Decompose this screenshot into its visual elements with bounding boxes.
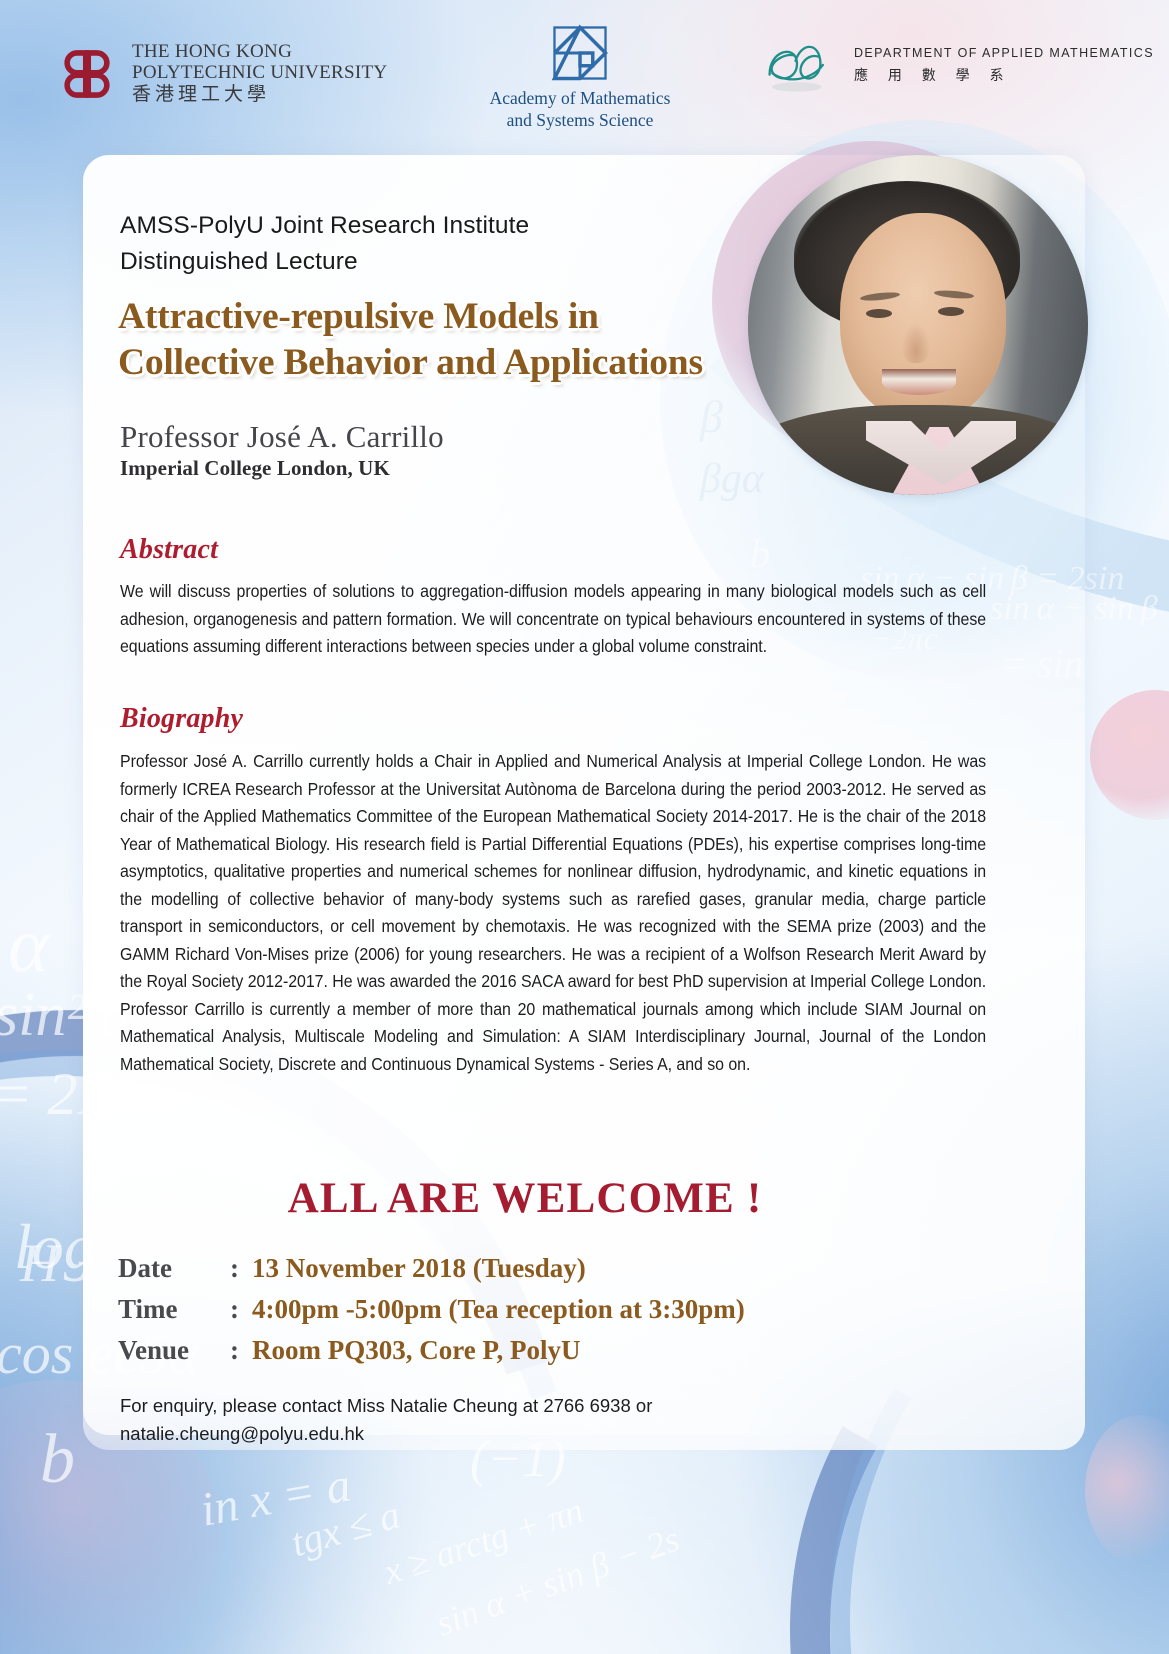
polyu-name-chinese: 香港理工大學 (132, 85, 387, 106)
event-kicker: AMSS-PolyU Joint Research Institute Dist… (120, 208, 760, 279)
abstract-heading: Abstract (120, 534, 218, 566)
polyu-logo: THE HONG KONG POLYTECHNIC UNIVERSITY 香港理… (56, 42, 387, 106)
department-wordmark: DEPARTMENT OF APPLIED MATHEMATICS 應 用 數 … (854, 44, 1154, 87)
enquiry-contact: For enquiry, please contact Miss Natalie… (120, 1392, 820, 1448)
enquiry-line-2[interactable]: natalie.cheung@polyu.edu.hk (120, 1420, 820, 1448)
enquiry-line-1: For enquiry, please contact Miss Natalie… (120, 1392, 820, 1420)
biography-heading: Biography (120, 703, 243, 735)
poster-header: THE HONG KONG POLYTECHNIC UNIVERSITY 香港理… (0, 0, 1169, 150)
amss-square-logo-icon (551, 24, 609, 82)
detail-colon: : (230, 1289, 252, 1330)
amss-logo: Academy of Mathematics and Systems Scien… (455, 24, 705, 132)
lecture-title: Attractive-repulsive Models in Collectiv… (118, 294, 838, 386)
polyu-name-line1: THE HONG KONG (132, 42, 387, 63)
department-name-english: DEPARTMENT OF APPLIED MATHEMATICS (854, 44, 1154, 63)
department-logo: DEPARTMENT OF APPLIED MATHEMATICS 應 用 數 … (760, 32, 1154, 98)
kicker-line-1: AMSS-PolyU Joint Research Institute (120, 208, 760, 244)
amss-wordmark: Academy of Mathematics and Systems Scien… (455, 87, 705, 132)
amss-name-line2: and Systems Science (455, 109, 705, 131)
detail-label-venue: Venue (118, 1330, 230, 1371)
detail-value-venue: Room PQ303, Core P, PolyU (252, 1330, 580, 1371)
event-details-list: Date : 13 November 2018 (Tuesday) Time :… (118, 1248, 978, 1371)
detail-row-date: Date : 13 November 2018 (Tuesday) (118, 1248, 978, 1289)
detail-label-time: Time (118, 1289, 230, 1330)
amss-name-line1: Academy of Mathematics (455, 87, 705, 109)
detail-colon: : (230, 1330, 252, 1371)
detail-value-time: 4:00pm -5:00pm (Tea reception at 3:30pm) (252, 1289, 745, 1330)
speaker-affiliation: Imperial College London, UK (120, 456, 390, 481)
department-name-chinese: 應 用 數 學 系 (854, 65, 1154, 86)
detail-row-venue: Venue : Room PQ303, Core P, PolyU (118, 1330, 978, 1371)
applied-math-ribbon-logo-icon (760, 32, 842, 98)
kicker-line-2: Distinguished Lecture (120, 244, 760, 280)
poster-root: α sin² α = 2R log cos ec5α H + aαt in x … (0, 0, 1169, 1654)
polyu-name-line2: POLYTECHNIC UNIVERSITY (132, 63, 387, 84)
abstract-body: We will discuss properties of solutions … (120, 578, 986, 661)
all-are-welcome-banner: ALL ARE WELCOME ! (0, 1174, 1050, 1223)
polyu-wordmark: THE HONG KONG POLYTECHNIC UNIVERSITY 香港理… (132, 42, 387, 106)
detail-colon: : (230, 1248, 252, 1289)
detail-value-date: 13 November 2018 (Tuesday) (252, 1248, 586, 1289)
title-line-1: Attractive-repulsive Models in (118, 294, 838, 340)
biography-body: Professor José A. Carrillo currently hol… (120, 748, 986, 1078)
title-line-2: Collective Behavior and Applications (118, 340, 838, 386)
detail-row-time: Time : 4:00pm -5:00pm (Tea reception at … (118, 1289, 978, 1330)
speaker-name: Professor José A. Carrillo (120, 418, 444, 455)
polyu-knot-logo-icon (56, 43, 118, 105)
detail-label-date: Date (118, 1248, 230, 1289)
